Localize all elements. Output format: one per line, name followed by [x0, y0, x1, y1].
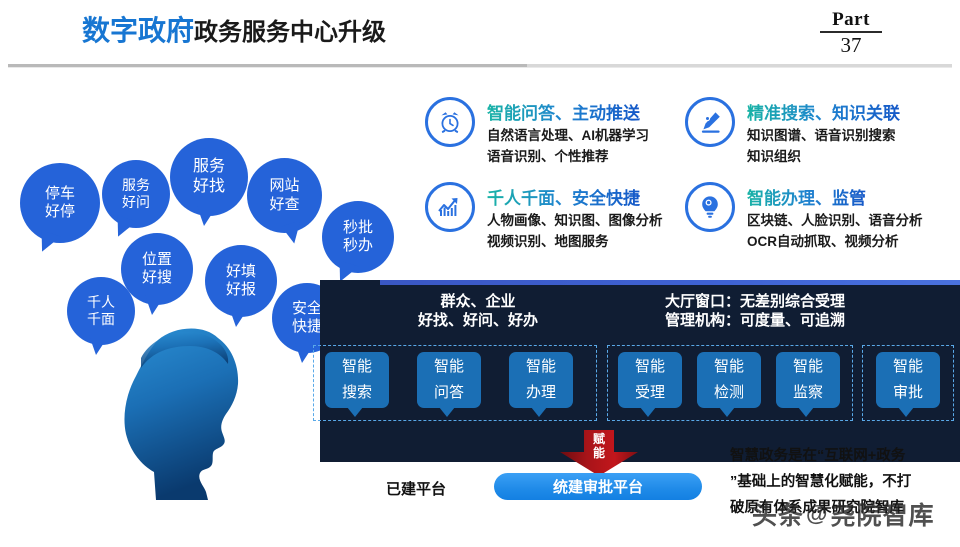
- bubble-line-1: 千人: [87, 294, 115, 311]
- chip-line-1: 智能: [434, 354, 464, 380]
- bubble-service-find: 服务 好找: [170, 138, 248, 216]
- chip-line-1: 智能: [342, 354, 372, 380]
- band-heading-right-line2: 管理机构：可度量、可追溯: [600, 311, 910, 330]
- page-title-subtitle: 政务服务中心升级: [194, 19, 386, 46]
- bubble-line-2: 好停: [45, 203, 75, 221]
- part-indicator: Part 37: [820, 10, 882, 56]
- chip-line-2: 监察: [793, 380, 823, 406]
- watermark-left-text: 头条: [752, 496, 804, 532]
- feature-title: 智能办理、监管: [747, 184, 866, 209]
- bubble-line-1: 秒批: [343, 219, 373, 237]
- pen-write-icon: [685, 97, 735, 147]
- chip-smart-accept: 智能 受理: [618, 352, 682, 408]
- band-heading-right-line1: 大厅窗口：无差别综合受理: [600, 292, 910, 311]
- part-number: 37: [820, 34, 882, 56]
- chip-smart-qa: 智能 问答: [417, 352, 481, 408]
- lightbulb-icon: [685, 182, 735, 232]
- band-heading-left-line2: 好找、好问、好办: [378, 311, 578, 330]
- feature-detail-2: OCR自动抓取、视频分析: [747, 230, 899, 250]
- unified-approval-platform-button[interactable]: 统建审批平台: [494, 473, 702, 500]
- page-title-highlight: 数字政府: [82, 15, 194, 46]
- watermark: 头条 @ 尧院智库: [752, 494, 960, 534]
- watermark-at-symbol: @: [806, 501, 828, 527]
- band-heading-right: 大厅窗口：无差别综合受理 管理机构：可度量、可追溯: [600, 292, 910, 330]
- chip-smart-supervise: 智能 监察: [776, 352, 840, 408]
- watermark-right-text: 尧院智库: [830, 496, 934, 532]
- bubble-line-1: 好填: [226, 263, 256, 281]
- feature-detail-1: 人物画像、知识图、图像分析: [487, 209, 663, 229]
- chip-line-1: 智能: [526, 354, 556, 380]
- page-title: 数字政府政务服务中心升级: [82, 17, 386, 45]
- feature-title: 精准搜索、知识关联: [747, 99, 900, 124]
- feature-title: 智能问答、主动推送: [487, 99, 640, 124]
- slide-root: 数字政府政务服务中心升级 Part 37 停车 好停 服务 好问 服务 好找 网…: [0, 0, 960, 540]
- feature-detail-2: 视频识别、地图服务: [487, 230, 609, 250]
- empowerment-label-line2: 能: [586, 446, 612, 460]
- feature-detail-1: 区块链、人脸识别、语音分析: [747, 209, 923, 229]
- bubble-location-search: 位置 好搜: [121, 233, 193, 305]
- bubble-line-2: 好问: [122, 194, 150, 211]
- bubble-parking: 停车 好停: [20, 163, 100, 243]
- chip-line-2: 受理: [635, 380, 665, 406]
- chip-line-2: 审批: [893, 380, 923, 406]
- bubble-line-1: 服务: [193, 157, 225, 177]
- feature-detail-2: 知识组织: [747, 145, 801, 165]
- bubble-line-1: 位置: [142, 251, 172, 269]
- feature-title: 千人千面、安全快捷: [487, 184, 640, 209]
- bubble-line-2: 好搜: [142, 269, 172, 287]
- chip-line-2: 搜索: [342, 380, 372, 406]
- part-label: Part: [820, 10, 882, 30]
- bubble-line-1: 网站: [269, 177, 299, 195]
- chip-line-1: 智能: [635, 354, 665, 380]
- description-line-2: ”基础上的智慧化赋能，不打: [730, 469, 958, 495]
- chip-line-1: 智能: [714, 354, 744, 380]
- empowerment-label-line1: 赋: [586, 432, 612, 446]
- bubble-line-2: 好找: [193, 177, 225, 197]
- chip-smart-handle: 智能 办理: [509, 352, 573, 408]
- bubble-website-check: 网站 好查: [247, 158, 322, 233]
- bubble-line-1: 服务: [122, 177, 150, 194]
- bubble-line-2: 好查: [269, 196, 299, 214]
- bubble-service-ask: 服务 好问: [102, 160, 170, 228]
- chip-smart-inspect: 智能 检测: [697, 352, 761, 408]
- chip-smart-search: 智能 搜索: [325, 352, 389, 408]
- alarm-clock-icon: [425, 97, 475, 147]
- feature-detail-1: 知识图谱、语音识别搜索: [747, 124, 896, 144]
- chip-line-1: 智能: [793, 354, 823, 380]
- empowerment-arrow-label: 赋 能: [586, 432, 612, 460]
- bubble-instant-approve: 秒批 秒办: [322, 201, 394, 273]
- chip-smart-approval: 智能 审批: [876, 352, 940, 408]
- feature-detail-1: 自然语言处理、AI机器学习: [487, 124, 649, 144]
- feature-detail-2: 语音识别、个性推荐: [487, 145, 609, 165]
- chip-line-1: 智能: [893, 354, 923, 380]
- navy-band-top-accent: [380, 280, 960, 285]
- band-heading-left: 群众、企业 好找、好问、好办: [378, 292, 578, 330]
- bubble-line-2: 快捷: [292, 318, 322, 336]
- bubble-line-2: 秒办: [343, 237, 373, 255]
- band-heading-left-line1: 群众、企业: [378, 292, 578, 311]
- header-divider: [8, 64, 952, 67]
- bubble-fill-report: 好填 好报: [205, 245, 277, 317]
- built-platform-label: 已建平台: [386, 478, 446, 499]
- bubble-line-1: 安全: [292, 300, 322, 318]
- description-line-1: 智慧政务是在“互联网+政务: [730, 443, 958, 469]
- bubble-line-2: 好报: [226, 281, 256, 299]
- head-silhouette: [96, 322, 286, 542]
- growth-chart-icon: [425, 182, 475, 232]
- chip-line-2: 检测: [714, 380, 744, 406]
- bubble-line-1: 停车: [45, 185, 75, 203]
- chip-line-2: 办理: [526, 380, 556, 406]
- chip-line-2: 问答: [434, 380, 464, 406]
